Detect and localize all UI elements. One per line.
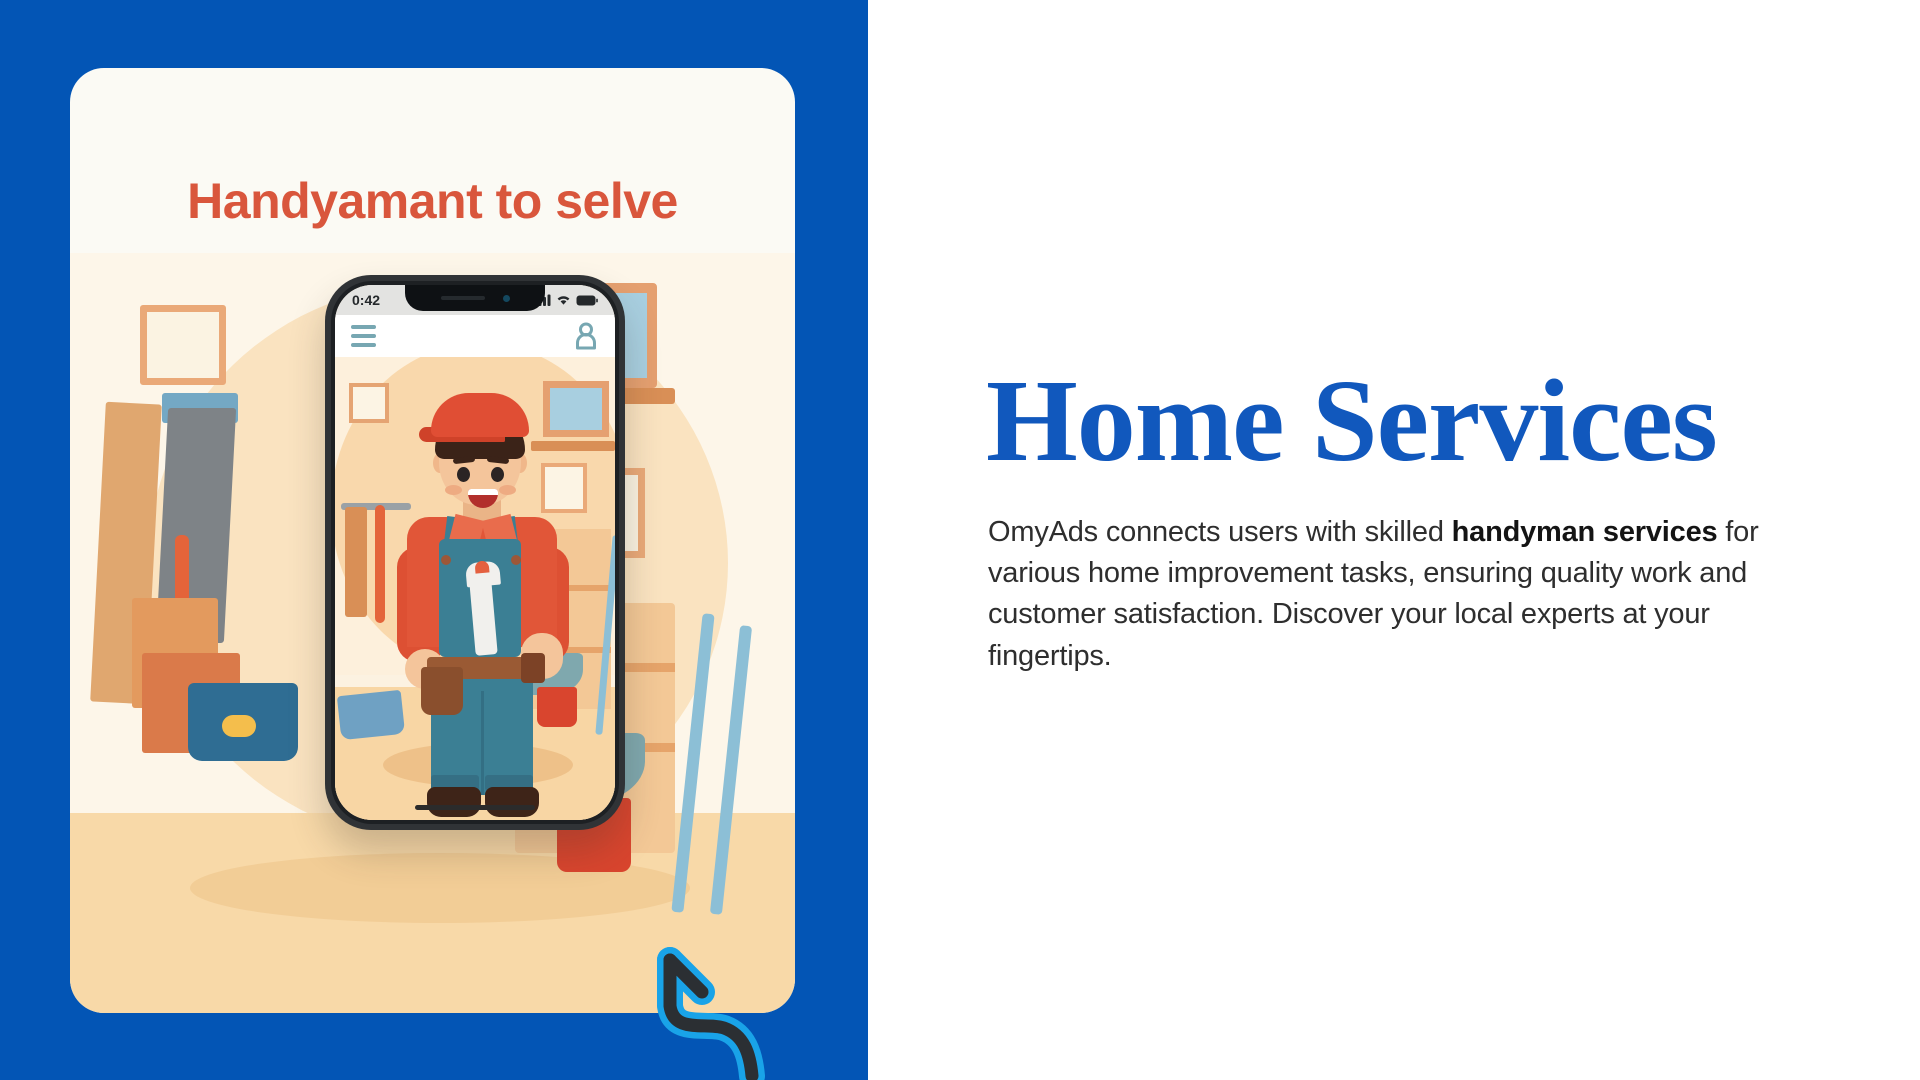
wall-picture-frame-left-icon <box>140 305 226 385</box>
battery-icon <box>576 295 598 306</box>
figure-overall-button-left <box>441 555 451 565</box>
app-header-bar <box>335 315 615 357</box>
hammer-icon <box>521 653 545 683</box>
vacuum-light-icon <box>222 715 256 737</box>
app-saw-icon <box>345 507 367 617</box>
figure-boot-right <box>485 787 539 817</box>
hand-drawn-arrow-icon <box>640 930 830 1080</box>
slide-root: Handyamant to selve <box>0 0 1920 1080</box>
figure-eye-right <box>491 467 504 482</box>
figure-cheek-right <box>499 485 516 495</box>
phone-screen: 0:42 <box>335 285 615 820</box>
body-text-bold: handyman services <box>1452 516 1718 548</box>
body-text-part1: OmyAds connects users with skilled <box>988 516 1452 548</box>
app-wall-poster <box>543 381 609 437</box>
app-picture-frame-2-icon <box>541 463 587 513</box>
figure-eye-left <box>457 467 470 482</box>
app-wall-shelf <box>531 441 615 451</box>
right-content-pane: Home Services OmyAds connects users with… <box>868 0 1920 1080</box>
figure-teeth <box>468 489 498 495</box>
app-vacuum-icon <box>337 690 405 740</box>
body-paragraph: OmyAds connects users with skilled handy… <box>988 512 1836 677</box>
app-plant-pot <box>537 687 577 727</box>
phone-bezel: 0:42 <box>331 281 619 824</box>
figure-cheek-left <box>445 485 462 495</box>
figure-overall-button-right <box>511 555 521 565</box>
app-wrench-wall-icon <box>375 505 385 623</box>
wrench-jaw-gap <box>475 560 490 573</box>
home-indicator-bar[interactable] <box>415 805 535 810</box>
phone-notch <box>405 285 545 311</box>
figure-pants-seam <box>481 691 484 795</box>
earpiece-speaker-icon <box>441 296 485 300</box>
status-bar-time: 0:42 <box>352 292 380 308</box>
user-account-icon[interactable] <box>573 322 599 350</box>
hamburger-menu-icon[interactable] <box>351 325 376 347</box>
promo-card: Handyamant to selve <box>70 68 795 1013</box>
app-illustration-body <box>335 357 615 820</box>
page-title: Home Services <box>986 362 1717 480</box>
app-picture-frame-icon <box>349 383 389 423</box>
figure-tool-pouch <box>421 667 463 715</box>
phone-mockup: 0:42 <box>325 275 625 830</box>
figure-boot-left <box>427 787 481 817</box>
card-title: Handyamant to selve <box>70 172 795 230</box>
front-camera-icon <box>503 295 510 302</box>
wifi-icon <box>556 294 571 306</box>
